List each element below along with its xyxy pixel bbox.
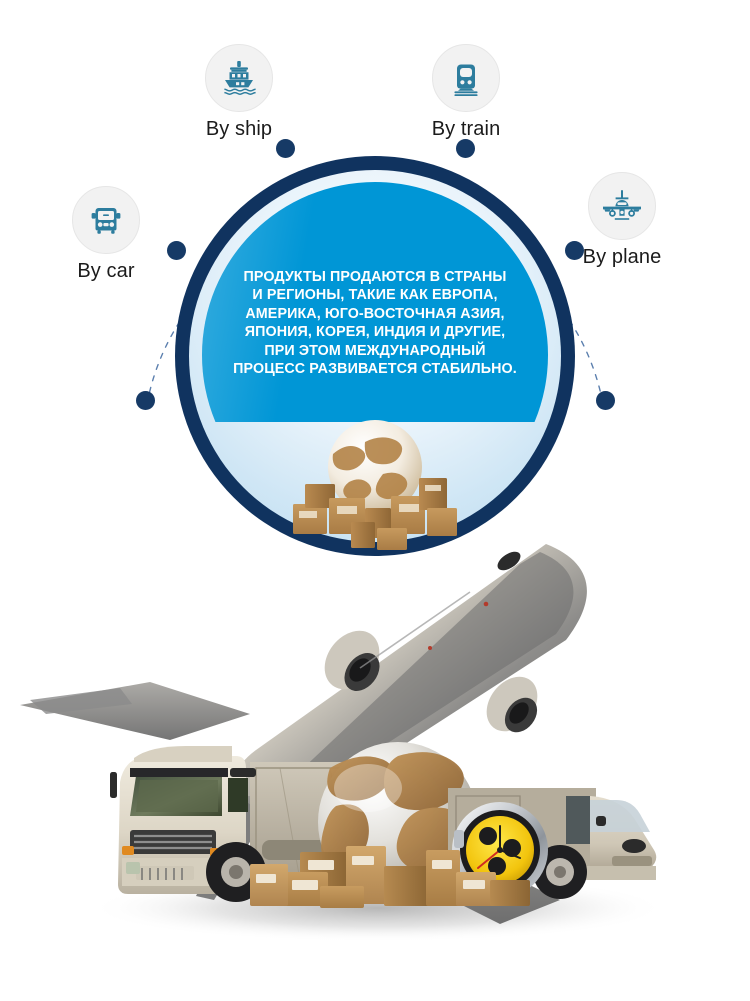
transport-hero-composition <box>0 500 750 970</box>
airplane-front-icon <box>601 185 643 227</box>
arc-node-6 <box>596 391 615 410</box>
infographic-canvas: ПРОДУКТЫ ПРОДАЮТСЯ В СТРАНЫ И РЕГИОНЫ, Т… <box>0 0 750 1001</box>
train-icon <box>446 58 486 98</box>
mode-ship[interactable]: By ship <box>179 44 299 140</box>
mode-plane-label: By plane <box>562 246 682 268</box>
mode-ship-label: By ship <box>179 118 299 140</box>
mode-plane[interactable]: By plane <box>562 172 682 268</box>
mode-car-badge[interactable] <box>72 186 140 254</box>
mode-plane-badge[interactable] <box>588 172 656 240</box>
mode-train-badge[interactable] <box>432 44 500 112</box>
mode-train-label: By train <box>406 118 526 140</box>
ship-icon <box>219 58 259 98</box>
mode-train[interactable]: By train <box>406 44 526 140</box>
mode-car[interactable]: By car <box>46 186 166 282</box>
mode-car-label: By car <box>46 260 166 282</box>
mode-ship-badge[interactable] <box>205 44 273 112</box>
arc-node-1 <box>276 139 295 158</box>
truck-front-icon <box>86 200 126 240</box>
hero-artwork <box>0 500 750 970</box>
arc-node-2 <box>456 139 475 158</box>
arc-node-3 <box>167 241 186 260</box>
blue-description-panel <box>202 182 548 422</box>
arc-node-5 <box>136 391 155 410</box>
